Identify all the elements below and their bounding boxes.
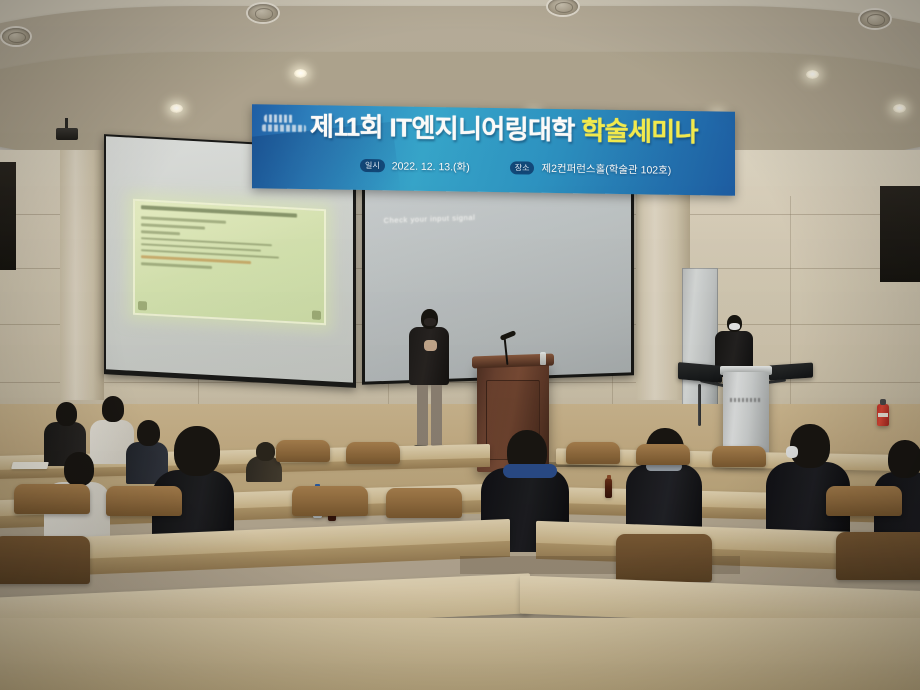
attendee-4-head (256, 442, 275, 461)
banner-title: 제11회 IT엔지니어링대학 학술세미나 (310, 113, 730, 147)
slide-item-2 (141, 223, 205, 229)
chair-c5[interactable] (826, 486, 902, 516)
presenter-face-mask (424, 318, 436, 326)
osd-message: Check your input signal (384, 213, 476, 225)
monitor-pole (698, 384, 701, 426)
chair-b3[interactable] (566, 442, 620, 464)
attendee-10-head (888, 440, 920, 478)
ceiling-vent-3 (860, 10, 890, 28)
banner-subtitle: 일시 2022. 12. 13.(화) 장소 제2컨퍼런스홀(학술관 102호) (360, 158, 671, 178)
university-logo (262, 113, 308, 136)
attendee-2-head (102, 396, 124, 422)
presenter-hands (424, 340, 437, 351)
chair-c1[interactable] (14, 484, 90, 514)
slide-item-5 (141, 262, 212, 269)
chair-b2[interactable] (346, 442, 400, 464)
ceiling-spotlight-2 (806, 70, 819, 79)
slide-title (141, 205, 296, 217)
banner-date-value: 2022. 12. 13.(화) (392, 158, 470, 174)
desk-row-d-front (0, 618, 920, 690)
banner-date-tag: 일시 (360, 159, 385, 172)
presenter-leg-left (417, 383, 428, 447)
beverage-bottle-2 (605, 478, 612, 498)
attendee-7-hood (503, 464, 557, 478)
operator-face-mask (729, 323, 740, 330)
podium-water-bottle (540, 352, 546, 365)
fire-extinguisher (877, 404, 889, 426)
wall-column-left (60, 150, 104, 400)
seminar-banner: 제11회 IT엔지니어링대학 학술세미나 일시 2022. 12. 13.(화)… (252, 104, 735, 196)
chair-d3[interactable] (836, 532, 920, 580)
attendee-6-head (174, 426, 220, 476)
ceiling-spotlight-1 (294, 69, 307, 78)
slide-item-3 (141, 230, 180, 235)
ceiling-vent-1 (248, 4, 278, 22)
chair-d1[interactable] (0, 536, 90, 584)
ceiling-vent-4 (2, 28, 30, 45)
chair-d2[interactable] (616, 534, 712, 582)
chair-c2[interactable] (106, 486, 182, 516)
slide-item-1 (141, 216, 226, 224)
presenter-leg-right (431, 383, 442, 447)
chair-b1[interactable] (276, 440, 330, 462)
ceiling-spotlight-3 (170, 104, 183, 113)
lecture-hall-photo: Check your input signal 제11회 IT엔지니어링대학 학… (0, 0, 920, 690)
attendee-9-face-mask (786, 446, 798, 458)
chair-c3[interactable] (292, 486, 368, 516)
lectern-brand-label (730, 398, 760, 402)
attendee-5-head (64, 452, 94, 486)
attendee-1-head (56, 402, 77, 426)
wall-dark-panel-left (0, 162, 16, 270)
chair-b4[interactable] (636, 444, 690, 465)
slide-logo-left (138, 301, 147, 310)
banner-place-value: 제2컨퍼런스홀(학술관 102호) (541, 161, 671, 178)
chair-c4[interactable] (386, 488, 462, 518)
operator-monitor-right[interactable] (769, 362, 813, 380)
banner-place-tag: 장소 (510, 161, 535, 174)
banner-title-accent: 학술세미나 (581, 115, 698, 147)
presenter-torso (409, 327, 449, 385)
ceiling-spotlight-4 (893, 104, 906, 113)
chair-b5[interactable] (712, 446, 766, 467)
wall-seam-4 (0, 382, 920, 383)
paper-left (11, 462, 49, 469)
attendee-3-head (137, 420, 160, 446)
presentation-slide (133, 198, 326, 325)
banner-title-main: 제11회 IT엔지니어링대학 (310, 111, 575, 145)
slide-logo-right (312, 311, 321, 320)
wall-dark-panel-right (880, 186, 920, 282)
ceiling-projector (56, 128, 78, 140)
